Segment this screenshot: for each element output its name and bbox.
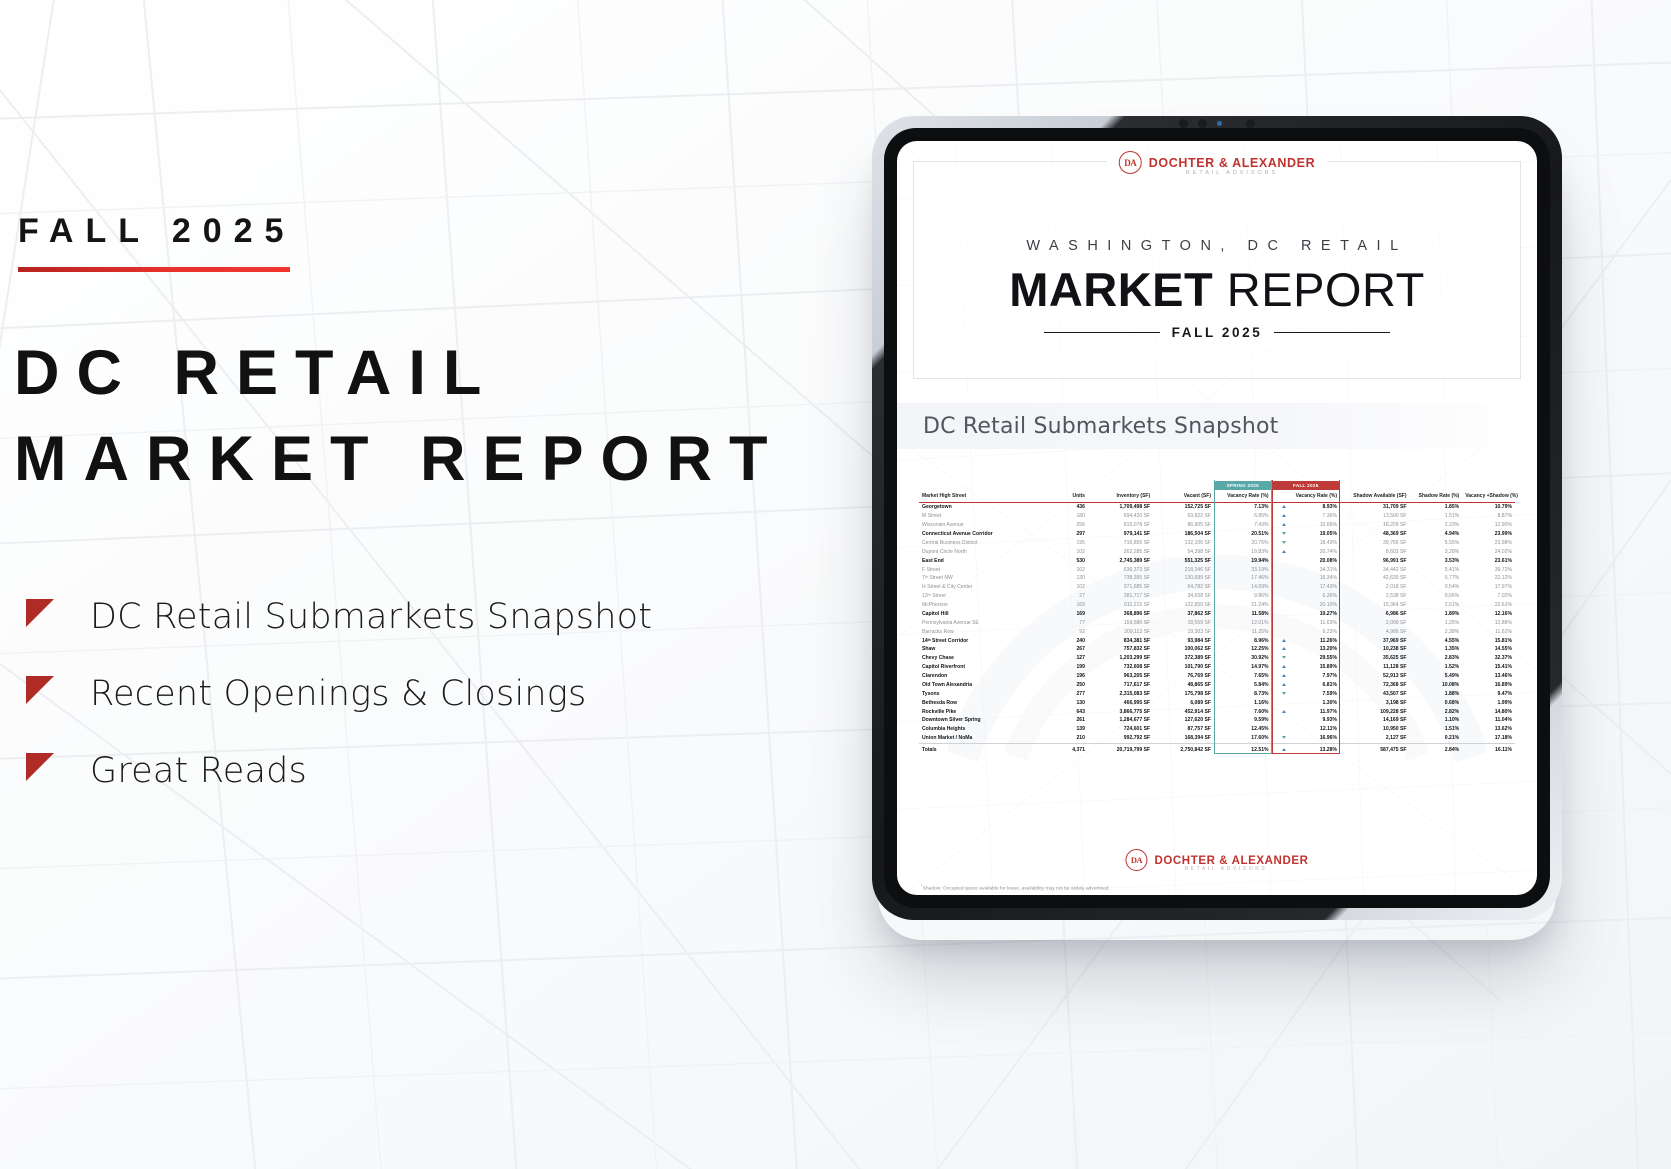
units-value: 250 bbox=[1052, 680, 1088, 689]
vacant-value: 34,658 SF bbox=[1153, 592, 1214, 601]
vacant-value: 87,757 SF bbox=[1153, 725, 1214, 734]
trend-indicator bbox=[1272, 556, 1289, 565]
fall-vacancy-value: 16.34% bbox=[1289, 574, 1340, 583]
triangle-bullet-icon bbox=[24, 751, 64, 791]
spring-vacancy-value: 17.46% bbox=[1214, 574, 1272, 583]
issue-kicker: FALL 2025 bbox=[18, 212, 295, 251]
fall-vacancy-value: 20.08% bbox=[1289, 556, 1340, 565]
submarket-name: F Street bbox=[919, 565, 1052, 574]
vacancy-plus-shadow-value: 14.80% bbox=[1462, 707, 1515, 716]
inventory-value: 3,866,775 SF bbox=[1088, 707, 1153, 716]
table-row: 14ᵗʰ Street Corridor240834,381 SF93,984 … bbox=[919, 636, 1515, 645]
table-row: 7ᵗʰ Street NW130738,395 SF130,689 SF17.4… bbox=[919, 574, 1515, 583]
shadow-available-value: 10,950 SF bbox=[1340, 725, 1410, 734]
vacant-value: 6,089 SF bbox=[1153, 698, 1214, 707]
inventory-value: 738,395 SF bbox=[1088, 574, 1153, 583]
vacant-value: 551,325 SF bbox=[1153, 556, 1214, 565]
submarket-name: Totals bbox=[919, 743, 1052, 754]
shadow-available-value: 10,238 SF bbox=[1340, 645, 1410, 654]
inventory-value: 611,215 SF bbox=[1088, 601, 1153, 610]
fall-vacancy-value: 20.10% bbox=[1289, 601, 1340, 610]
submarket-name: Tysons bbox=[919, 689, 1052, 698]
shadow-rate-value: 1.25% bbox=[1410, 618, 1463, 627]
vacancy-plus-shadow-value: 11.62% bbox=[1462, 627, 1515, 636]
fall-vacancy-value: 11.97% bbox=[1289, 707, 1340, 716]
table-totals-row: Totals4,37120,719,799 SF2,750,842 SF12.5… bbox=[919, 743, 1515, 754]
report-title: MARKET REPORT bbox=[914, 262, 1520, 318]
trend-indicator bbox=[1272, 547, 1289, 556]
shadow-available-value: 2,538 SF bbox=[1340, 592, 1410, 601]
table-row: Shaw267757,832 SF100,062 SF12.25%13.20%1… bbox=[919, 645, 1515, 654]
table-row: Downtown Silver Spring2611,284,677 SF127… bbox=[919, 716, 1515, 725]
submarket-name: Shaw bbox=[919, 645, 1052, 654]
fall-vacancy-value: 17.43% bbox=[1289, 583, 1340, 592]
units-value: 256 bbox=[1052, 521, 1088, 530]
fall-vacancy-value: 29.55% bbox=[1289, 654, 1340, 663]
spring-vacancy-value: 21.24% bbox=[1214, 601, 1272, 610]
fall-vacancy-value: 34.31% bbox=[1289, 565, 1340, 574]
spring-vacancy-value: 7.13% bbox=[1214, 502, 1272, 511]
trend-up-icon bbox=[1282, 514, 1286, 517]
fall-vacancy-value: 15.89% bbox=[1289, 663, 1340, 672]
spring-vacancy-value: 12.25% bbox=[1214, 645, 1272, 654]
submarket-name: Bethesda Row bbox=[919, 698, 1052, 707]
shadow-rate-value: 0.21% bbox=[1410, 734, 1463, 743]
vacancy-plus-shadow-value: 7.02% bbox=[1462, 592, 1515, 601]
vacant-value: 76,769 SF bbox=[1153, 672, 1214, 681]
units-value: 267 bbox=[1052, 645, 1088, 654]
inventory-value: 963,205 SF bbox=[1088, 672, 1153, 681]
table-row: M Street180694,420 SF63,822 SF6.85%7.36%… bbox=[919, 512, 1515, 521]
fall-vacancy-value: 13.28% bbox=[1289, 743, 1340, 754]
vacancy-plus-shadow-value: 13.46% bbox=[1462, 672, 1515, 681]
shadow-available-value: 109,228 SF bbox=[1340, 707, 1410, 716]
kicker-rule bbox=[18, 267, 290, 272]
trend-indicator bbox=[1272, 672, 1289, 681]
units-value: 240 bbox=[1052, 636, 1088, 645]
vacancy-plus-shadow-value: 12.16% bbox=[1462, 609, 1515, 618]
spring-vacancy-value: 5.84% bbox=[1214, 680, 1272, 689]
trend-indicator bbox=[1272, 689, 1289, 698]
inventory-value: 979,141 SF bbox=[1088, 530, 1153, 539]
submarket-name: Clarendon bbox=[919, 672, 1052, 681]
trend-down-icon bbox=[1282, 692, 1286, 695]
submarket-name: Capitol Hill bbox=[919, 609, 1052, 618]
trend-down-icon bbox=[1282, 656, 1286, 659]
tab-fall-2025[interactable]: FALL 2025 bbox=[1272, 481, 1340, 491]
table-row: Rockville Pike6433,866,775 SF452,914 SF7… bbox=[919, 707, 1515, 716]
units-value: 210 bbox=[1052, 734, 1088, 743]
trend-down-icon bbox=[1282, 541, 1286, 544]
inventory-value: 992,792 SF bbox=[1088, 734, 1153, 743]
spring-vacancy-value: 12.01% bbox=[1214, 618, 1272, 627]
submarket-name: Rockville Pike bbox=[919, 707, 1052, 716]
shadow-available-value: 3,198 SF bbox=[1340, 698, 1410, 707]
fall-vacancy-value: 1.30% bbox=[1289, 698, 1340, 707]
vacant-value: 64,782 SF bbox=[1153, 583, 1214, 592]
spring-vacancy-value: 19.94% bbox=[1214, 556, 1272, 565]
submarket-name: Central Business District bbox=[919, 538, 1052, 547]
shadow-available-value: 2,127 SF bbox=[1340, 734, 1410, 743]
submarkets-table: SPRING 2025 FALL 2025 Market High Street… bbox=[919, 481, 1515, 754]
vacancy-plus-shadow-value: 16.89% bbox=[1462, 680, 1515, 689]
table-row: Georgetown4361,709,498 SF152,725 SF7.13%… bbox=[919, 502, 1515, 511]
spring-vacancy-value: 8.73% bbox=[1214, 689, 1272, 698]
trend-indicator bbox=[1272, 654, 1289, 663]
trend-indicator bbox=[1272, 663, 1289, 672]
table-row: East End5302,745,389 SF551,325 SF19.94%2… bbox=[919, 556, 1515, 565]
vacant-value: 19,303 SF bbox=[1153, 627, 1214, 636]
trend-up-icon bbox=[1282, 550, 1286, 553]
vacant-value: 452,914 SF bbox=[1153, 707, 1214, 716]
spring-vacancy-value: 12.51% bbox=[1214, 743, 1272, 754]
trend-up-icon bbox=[1282, 748, 1286, 751]
col-market: Market High Street bbox=[919, 491, 1052, 502]
inventory-value: 466,995 SF bbox=[1088, 698, 1153, 707]
table-row: Tysons2772,315,083 SF175,798 SF8.73%7.59… bbox=[919, 689, 1515, 698]
list-item[interactable]: DC Retail Submarkets Snapshot bbox=[20, 578, 840, 655]
tab-spring-2025[interactable]: SPRING 2025 bbox=[1214, 481, 1272, 491]
vacant-value: 86,905 SF bbox=[1153, 521, 1214, 530]
shadow-available-value: 52,913 SF bbox=[1340, 672, 1410, 681]
shadow-available-value: 43,507 SF bbox=[1340, 689, 1410, 698]
spring-vacancy-value: 9.86% bbox=[1214, 592, 1272, 601]
table-row: Union Market / NoMa210992,792 SF168,394 … bbox=[919, 734, 1515, 743]
vacant-value: 132,106 SF bbox=[1153, 538, 1214, 547]
list-item-label: Recent Openings & Closings bbox=[90, 674, 586, 714]
shadow-available-value: 6,986 SF bbox=[1340, 609, 1410, 618]
vacancy-plus-shadow-value: 22.12% bbox=[1462, 574, 1515, 583]
shadow-rate-value: 1.88% bbox=[1410, 689, 1463, 698]
col-inventory: Inventory (SF) bbox=[1088, 491, 1153, 502]
shadow-rate-value: 1.51% bbox=[1410, 725, 1463, 734]
fall-vacancy-value: 7.36% bbox=[1289, 512, 1340, 521]
spring-vacancy-value: 6.85% bbox=[1214, 512, 1272, 521]
col-trend bbox=[1272, 491, 1289, 502]
trend-indicator bbox=[1272, 627, 1289, 636]
trend-up-icon bbox=[1282, 523, 1286, 526]
table-row: Dupont Circle North102262,285 SF54,398 S… bbox=[919, 547, 1515, 556]
fall-vacancy-value: 6.81% bbox=[1289, 680, 1340, 689]
units-value: 643 bbox=[1052, 707, 1088, 716]
shadow-available-value: 2,000 SF bbox=[1340, 618, 1410, 627]
spring-vacancy-value: 20.51% bbox=[1214, 530, 1272, 539]
trend-up-icon bbox=[1282, 665, 1286, 668]
col-shadow-rate: Shadow Rate (%) bbox=[1410, 491, 1463, 502]
units-value: 130 bbox=[1052, 574, 1088, 583]
footnote-text: Shadow: Occupied space available for lea… bbox=[923, 887, 1110, 892]
units-value: 102 bbox=[1052, 565, 1088, 574]
shadow-rate-value: 2.82% bbox=[1410, 707, 1463, 716]
fall-vacancy-value: 7.97% bbox=[1289, 672, 1340, 681]
table-body: Georgetown4361,709,498 SF152,725 SF7.13%… bbox=[919, 502, 1515, 754]
col-units: Units bbox=[1052, 491, 1088, 502]
inventory-value: 732,608 SF bbox=[1088, 663, 1153, 672]
spring-vacancy-value: 30.92% bbox=[1214, 654, 1272, 663]
units-value: 530 bbox=[1052, 556, 1088, 565]
inventory-value: 1,203,299 SF bbox=[1088, 654, 1153, 663]
vacant-value: 54,398 SF bbox=[1153, 547, 1214, 556]
inventory-value: 2,315,083 SF bbox=[1088, 689, 1153, 698]
submarket-name: McPherson bbox=[919, 601, 1052, 610]
vacant-value: 101,790 SF bbox=[1153, 663, 1214, 672]
fall-vacancy-value: 9.93% bbox=[1289, 716, 1340, 725]
shadow-available-value: 37,969 SF bbox=[1340, 636, 1410, 645]
inventory-value: 20,719,799 SF bbox=[1088, 743, 1153, 754]
submarket-name: Connecticut Avenue Corridor bbox=[919, 530, 1052, 539]
submarket-name: Wisconsin Avenue bbox=[919, 521, 1052, 530]
inventory-value: 716,856 SF bbox=[1088, 538, 1153, 547]
vacant-value: 175,798 SF bbox=[1153, 689, 1214, 698]
shadow-rate-value: 5.77% bbox=[1410, 574, 1463, 583]
units-value: 199 bbox=[1052, 663, 1088, 672]
vacancy-plus-shadow-value: 12.88% bbox=[1462, 618, 1515, 627]
submarket-name: Columbia Heights bbox=[919, 725, 1052, 734]
table-footnote: *Shadow: Occupied space available for le… bbox=[921, 883, 1110, 892]
submarket-name: East End bbox=[919, 556, 1052, 565]
spring-vacancy-value: 8.96% bbox=[1214, 636, 1272, 645]
trend-indicator bbox=[1272, 636, 1289, 645]
inventory-value: 834,381 SF bbox=[1088, 636, 1153, 645]
vacancy-plus-shadow-value: 10.79% bbox=[1462, 502, 1515, 511]
section-header: DC Retail Submarkets Snapshot bbox=[897, 403, 1537, 449]
col-shadow-available: Shadow Available (SF) bbox=[1340, 491, 1410, 502]
vacant-value: 186,504 SF bbox=[1153, 530, 1214, 539]
trend-indicator bbox=[1272, 743, 1289, 754]
page-title: DC RETAIL MARKET REPORT bbox=[14, 330, 834, 502]
vacancy-plus-shadow-value: 16.11% bbox=[1462, 743, 1515, 754]
table-row: F Street102636,373 SF218,346 SF33.19%34.… bbox=[919, 565, 1515, 574]
vacant-value: 152,725 SF bbox=[1153, 502, 1214, 511]
trend-up-icon bbox=[1282, 639, 1286, 642]
tab-fall-label: FALL 2025 bbox=[1272, 481, 1340, 490]
units-value: 130 bbox=[1052, 698, 1088, 707]
vacant-value: 37,862 SF bbox=[1153, 609, 1214, 618]
footer-monogram-icon: DA bbox=[1125, 849, 1147, 871]
shadow-rate-value: 3.28% bbox=[1410, 547, 1463, 556]
shadow-available-value: 35,625 SF bbox=[1340, 654, 1410, 663]
shadow-rate-value: 2.23% bbox=[1410, 521, 1463, 530]
units-value: 297 bbox=[1052, 530, 1088, 539]
spring-vacancy-value: 7.43% bbox=[1214, 521, 1272, 530]
trend-indicator bbox=[1272, 734, 1289, 743]
spring-vacancy-value: 20.76% bbox=[1214, 538, 1272, 547]
trend-indicator bbox=[1272, 530, 1289, 539]
report-header-card: DA DOCHTER & ALEXANDER RETAIL ADVISORS W… bbox=[913, 161, 1521, 379]
vacancy-plus-shadow-value: 15.81% bbox=[1462, 636, 1515, 645]
shadow-available-value: 39,766 SF bbox=[1340, 538, 1410, 547]
col-vacancy-plus-shadow: Vacancy +Shadow (%) bbox=[1462, 491, 1515, 502]
fall-vacancy-value: 9.23% bbox=[1289, 627, 1340, 636]
shadow-available-value: 2,018 SF bbox=[1340, 583, 1410, 592]
shadow-rate-value: 0.68% bbox=[1410, 698, 1463, 707]
vacant-value: 372,389 SF bbox=[1153, 654, 1214, 663]
submarket-name: Capitol Riverfront bbox=[919, 663, 1052, 672]
fall-vacancy-value: 8.93% bbox=[1289, 502, 1340, 511]
spring-vacancy-value: 19.83% bbox=[1214, 547, 1272, 556]
spring-vacancy-value: 9.59% bbox=[1214, 716, 1272, 725]
fall-vacancy-value: 16.96% bbox=[1289, 734, 1340, 743]
section-title: DC Retail Submarkets Snapshot bbox=[923, 414, 1279, 439]
shadow-rate-value: 0.66% bbox=[1410, 592, 1463, 601]
table-row: Columbia Heights139724,601 SF87,757 SF12… bbox=[919, 725, 1515, 734]
trend-indicator bbox=[1272, 609, 1289, 618]
inventory-value: 1,284,677 SF bbox=[1088, 716, 1153, 725]
footer-brand-tagline: RETAIL ADVISORS bbox=[1184, 866, 1267, 872]
trend-indicator bbox=[1272, 592, 1289, 601]
submarket-name: Old Town Alexandria bbox=[919, 680, 1052, 689]
shadow-rate-value: 3.53% bbox=[1410, 556, 1463, 565]
inventory-value: 636,373 SF bbox=[1088, 565, 1153, 574]
report-eyebrow: WASHINGTON, DC RETAIL bbox=[914, 238, 1520, 254]
table-row: Capitol Riverfront199732,608 SF101,790 S… bbox=[919, 663, 1515, 672]
fall-vacancy-value: 11.63% bbox=[1289, 618, 1340, 627]
vacant-value: 130,689 SF bbox=[1153, 574, 1214, 583]
vacancy-plus-shadow-value: 12.90% bbox=[1462, 521, 1515, 530]
list-item[interactable]: Recent Openings & Closings bbox=[20, 655, 840, 732]
submarket-name: Downtown Silver Spring bbox=[919, 716, 1052, 725]
report-season-label: FALL 2025 bbox=[1172, 325, 1263, 340]
shadow-rate-value: 10.08% bbox=[1410, 680, 1463, 689]
season-tab-row: SPRING 2025 FALL 2025 bbox=[919, 481, 1515, 491]
trend-indicator bbox=[1272, 583, 1289, 592]
vacant-value: 48,865 SF bbox=[1153, 680, 1214, 689]
inventory-value: 371,685 SF bbox=[1088, 583, 1153, 592]
shadow-available-value: 42,639 SF bbox=[1340, 574, 1410, 583]
vacancy-plus-shadow-value: 17.97% bbox=[1462, 583, 1515, 592]
trend-indicator bbox=[1272, 698, 1289, 707]
submarket-name: 14ᵗʰ Street Corridor bbox=[919, 636, 1052, 645]
table-row: Pennsylvania Avenue SE77159,580 SF18,559… bbox=[919, 618, 1515, 627]
shadow-available-value: 14,169 SF bbox=[1340, 716, 1410, 725]
inventory-value: 694,420 SF bbox=[1088, 512, 1153, 521]
vacancy-plus-shadow-value: 23.98% bbox=[1462, 538, 1515, 547]
vacancy-plus-shadow-value: 39.72% bbox=[1462, 565, 1515, 574]
shadow-rate-value: 0.54% bbox=[1410, 583, 1463, 592]
brand-name: DOCHTER & ALEXANDER bbox=[1149, 156, 1316, 170]
shadow-available-value: 31,709 SF bbox=[1340, 502, 1410, 511]
vacant-value: 18,559 SF bbox=[1153, 618, 1214, 627]
units-value: 195 bbox=[1052, 538, 1088, 547]
fall-vacancy-value: 10.66% bbox=[1289, 521, 1340, 530]
triangle-bullet-icon bbox=[24, 674, 64, 714]
trend-up-icon bbox=[1282, 674, 1286, 677]
shadow-available-value: 96,991 SF bbox=[1340, 556, 1410, 565]
tablet-bezel: DA DOCHTER & ALEXANDER RETAIL ADVISORS W… bbox=[884, 128, 1550, 908]
units-value: 77 bbox=[1052, 618, 1088, 627]
tablet-screen[interactable]: DA DOCHTER & ALEXANDER RETAIL ADVISORS W… bbox=[897, 141, 1537, 895]
spring-vacancy-value: 1.16% bbox=[1214, 698, 1272, 707]
trend-indicator bbox=[1272, 618, 1289, 627]
inventory-value: 1,709,498 SF bbox=[1088, 502, 1153, 511]
trend-indicator bbox=[1272, 716, 1289, 725]
trend-indicator bbox=[1272, 645, 1289, 654]
vacant-value: 63,822 SF bbox=[1153, 512, 1214, 521]
vacancy-plus-shadow-value: 23.99% bbox=[1462, 530, 1515, 539]
vacancy-plus-shadow-value: 9.47% bbox=[1462, 689, 1515, 698]
fall-vacancy-value: 18.43% bbox=[1289, 538, 1340, 547]
shadow-rate-value: 2.38% bbox=[1410, 627, 1463, 636]
trend-indicator bbox=[1272, 601, 1289, 610]
table-row: Chevy Chase1271,203,299 SF372,389 SF30.9… bbox=[919, 654, 1515, 663]
trend-up-icon bbox=[1282, 710, 1286, 713]
shadow-available-value: 11,128 SF bbox=[1340, 663, 1410, 672]
trend-indicator bbox=[1272, 574, 1289, 583]
fall-vacancy-value: 13.20% bbox=[1289, 645, 1340, 654]
col-vacant: Vacant (SF) bbox=[1153, 491, 1214, 502]
submarket-name: Pennsylvania Avenue SE bbox=[919, 618, 1052, 627]
vacancy-plus-shadow-value: 14.55% bbox=[1462, 645, 1515, 654]
shadow-available-value: 8,603 SF bbox=[1340, 547, 1410, 556]
col-vacancy-rate-spring: Vacancy Rate (%) bbox=[1214, 491, 1272, 502]
shadow-rate-value: 5.49% bbox=[1410, 672, 1463, 681]
trend-indicator bbox=[1272, 502, 1289, 511]
submarket-name: Dupont Circle North bbox=[919, 547, 1052, 556]
spring-vacancy-value: 7.65% bbox=[1214, 672, 1272, 681]
trend-indicator bbox=[1272, 707, 1289, 716]
units-value: 261 bbox=[1052, 716, 1088, 725]
units-value: 277 bbox=[1052, 689, 1088, 698]
inventory-value: 262,285 SF bbox=[1088, 547, 1153, 556]
shadow-rate-value: 1.10% bbox=[1410, 716, 1463, 725]
vacancy-plus-shadow-value: 32.37% bbox=[1462, 654, 1515, 663]
tablet-frame: DA DOCHTER & ALEXANDER RETAIL ADVISORS W… bbox=[872, 116, 1562, 920]
vacant-value: 127,620 SF bbox=[1153, 716, 1214, 725]
shadow-rate-value: 5.55% bbox=[1410, 538, 1463, 547]
submarket-name: Union Market / NoMa bbox=[919, 734, 1052, 743]
shadow-available-value: 15,364 SF bbox=[1340, 601, 1410, 610]
table-row: Wisconsin Avenue256815,078 SF86,905 SF7.… bbox=[919, 521, 1515, 530]
vacant-value: 2,750,842 SF bbox=[1153, 743, 1214, 754]
shadow-available-value: 34,442 SF bbox=[1340, 565, 1410, 574]
inventory-value: 368,896 SF bbox=[1088, 609, 1153, 618]
tab-spring-label: SPRING 2025 bbox=[1214, 481, 1272, 490]
table-row: 13ᵗʰ Street27381,717 SF34,658 SF9.86%6.3… bbox=[919, 592, 1515, 601]
trend-up-icon bbox=[1282, 683, 1286, 686]
spring-vacancy-value: 17.60% bbox=[1214, 734, 1272, 743]
rule-left bbox=[1044, 332, 1160, 333]
shadow-available-value: 4,986 SF bbox=[1340, 627, 1410, 636]
tablet-mockup: DA DOCHTER & ALEXANDER RETAIL ADVISORS W… bbox=[868, 112, 1568, 924]
trend-down-icon bbox=[1282, 736, 1286, 739]
spring-vacancy-value: 33.19% bbox=[1214, 565, 1272, 574]
shadow-rate-value: 1.51% bbox=[1410, 512, 1463, 521]
fall-vacancy-value: 20.74% bbox=[1289, 547, 1340, 556]
vacancy-plus-shadow-value: 22.61% bbox=[1462, 601, 1515, 610]
spring-vacancy-value: 14.97% bbox=[1214, 663, 1272, 672]
shadow-available-value: 18,209 SF bbox=[1340, 521, 1410, 530]
inventory-value: 724,601 SF bbox=[1088, 725, 1153, 734]
table-row: Barracks Row92209,113 SF19,303 SF11.25%9… bbox=[919, 627, 1515, 636]
trend-indicator bbox=[1272, 538, 1289, 547]
fall-vacancy-value: 19.05% bbox=[1289, 530, 1340, 539]
vacancy-plus-shadow-value: 11.04% bbox=[1462, 716, 1515, 725]
spring-vacancy-value: 12.45% bbox=[1214, 725, 1272, 734]
inventory-value: 209,113 SF bbox=[1088, 627, 1153, 636]
rule-right bbox=[1274, 332, 1390, 333]
shadow-rate-value: 1.35% bbox=[1410, 645, 1463, 654]
table-head: SPRING 2025 FALL 2025 Market High Street… bbox=[919, 481, 1515, 502]
camera-icon bbox=[1179, 119, 1255, 128]
table-row: H Street & City Center102371,685 SF64,78… bbox=[919, 583, 1515, 592]
table-row: Old Town Alexandria250717,617 SF48,865 S… bbox=[919, 680, 1515, 689]
submarkets-table-wrapper: SPRING 2025 FALL 2025 Market High Street… bbox=[919, 481, 1515, 754]
spring-vacancy-value: 14.09% bbox=[1214, 583, 1272, 592]
submarket-name: M Street bbox=[919, 512, 1052, 521]
list-item[interactable]: Great Reads bbox=[20, 732, 840, 809]
list-item-label: Great Reads bbox=[90, 751, 307, 791]
units-value: 127 bbox=[1052, 654, 1088, 663]
